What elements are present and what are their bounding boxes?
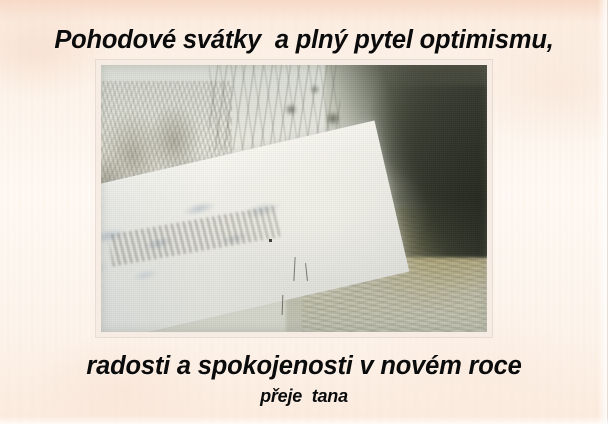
greeting-line-bottom: radosti a spokojenosti v novém roce	[0, 352, 608, 381]
photo-right-treeline-edge	[387, 86, 487, 257]
photo-frame	[96, 60, 492, 337]
greeting-card: Pohodové svátky a plný pytel optimismu,	[0, 0, 608, 424]
winter-river-photo	[101, 65, 487, 332]
greeting-line-top: Pohodové svátky a plný pytel optimismu,	[0, 26, 608, 55]
greeting-signature: přeje tana	[0, 386, 608, 407]
photo-dark-speck	[269, 239, 272, 242]
